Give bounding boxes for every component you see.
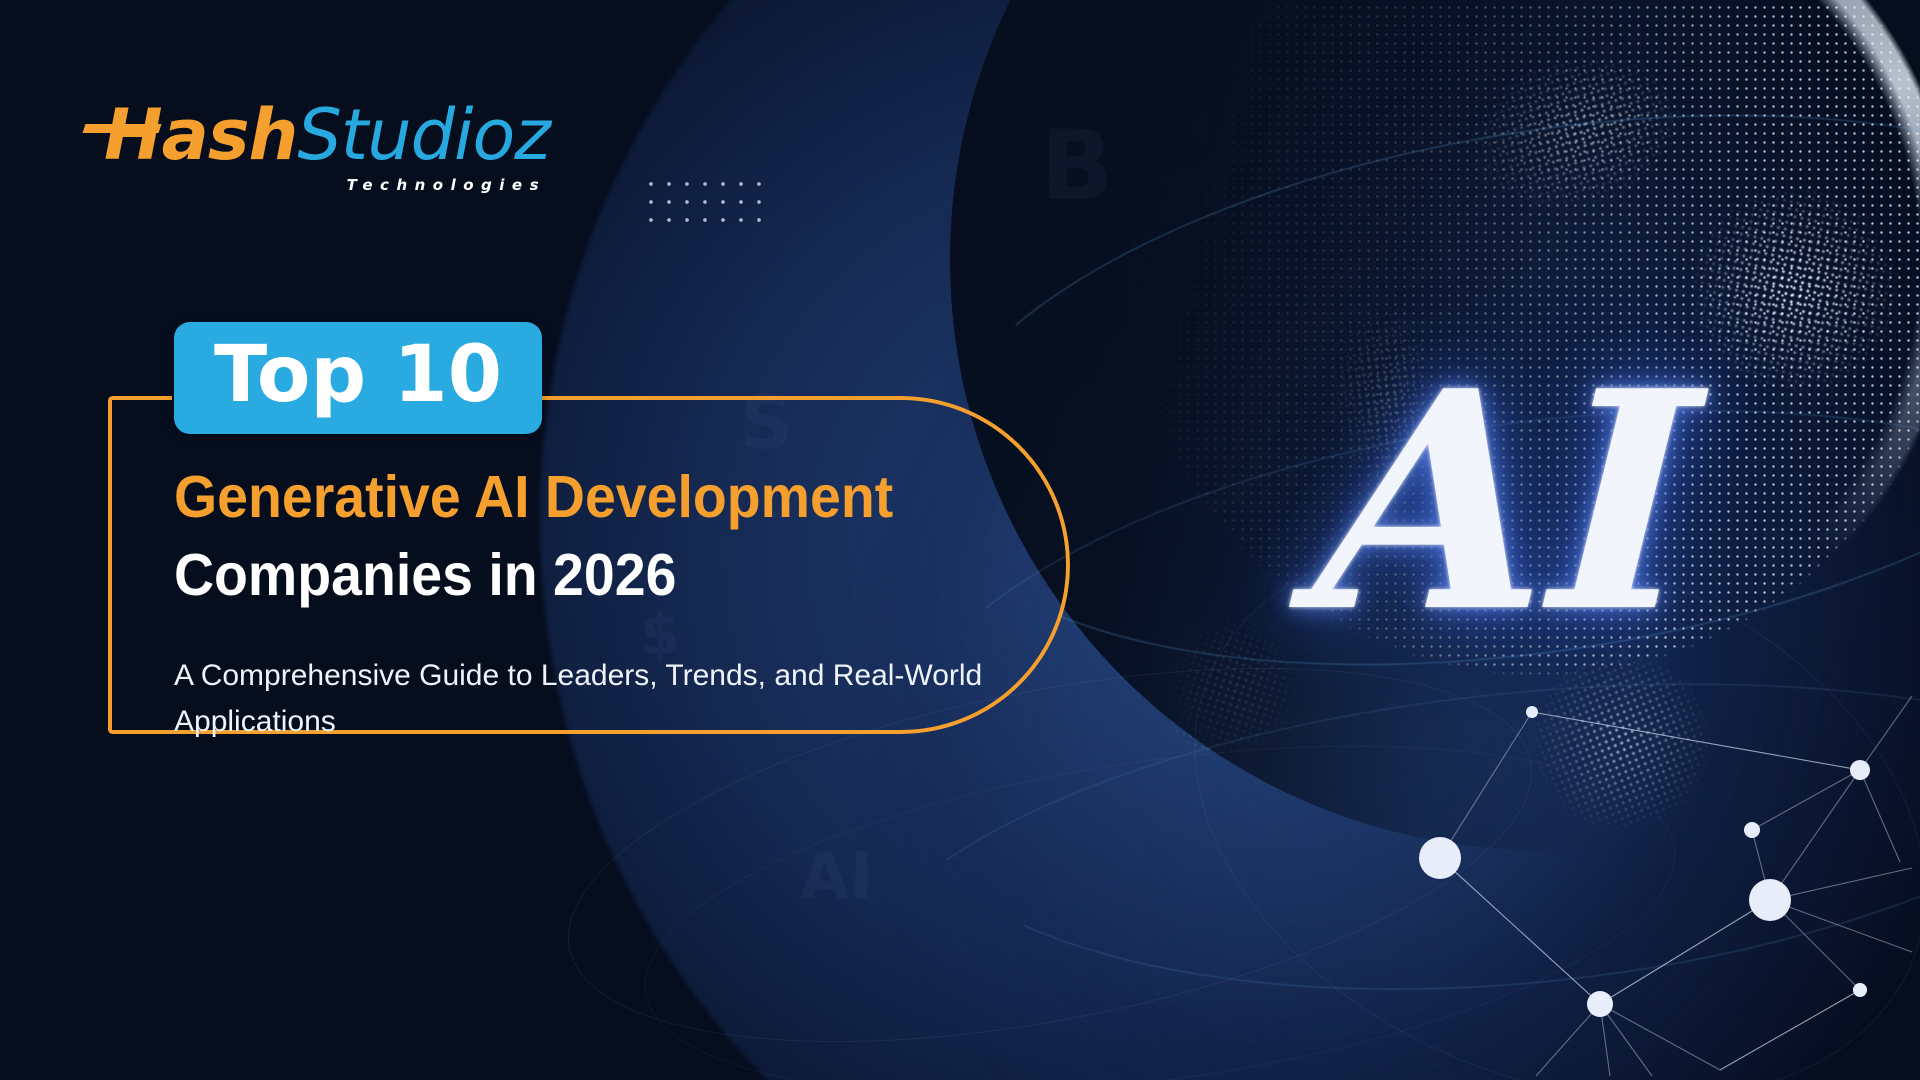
logo-slash-icon	[83, 124, 162, 133]
headline-line-1: Generative AI Development	[174, 466, 1114, 530]
ai-wordmark: AI	[1310, 352, 1707, 652]
top-10-badge: Top 10	[174, 322, 542, 434]
ghost-glyph-bitcoin: B	[1040, 110, 1113, 222]
banner-canvas: B S AI $	[0, 0, 1920, 1080]
subheadline: A Comprehensive Guide to Leaders, Trends…	[174, 653, 1004, 744]
top-10-badge-label: Top 10	[214, 330, 502, 420]
hero-content: Top 10 Generative AI Development Compani…	[174, 322, 1174, 745]
ghost-glyph-ai: AI	[800, 840, 873, 914]
logo-tagline: Technologies	[104, 176, 550, 194]
brand-logo[interactable]: HashStudioz Technologies	[104, 100, 550, 194]
logo-name-secondary: Studioz	[297, 94, 550, 176]
headline-line-2: Companies in 2026	[174, 544, 1114, 608]
dot-grid-decoration	[642, 175, 762, 231]
logo-name-primary: Hash	[104, 94, 297, 176]
